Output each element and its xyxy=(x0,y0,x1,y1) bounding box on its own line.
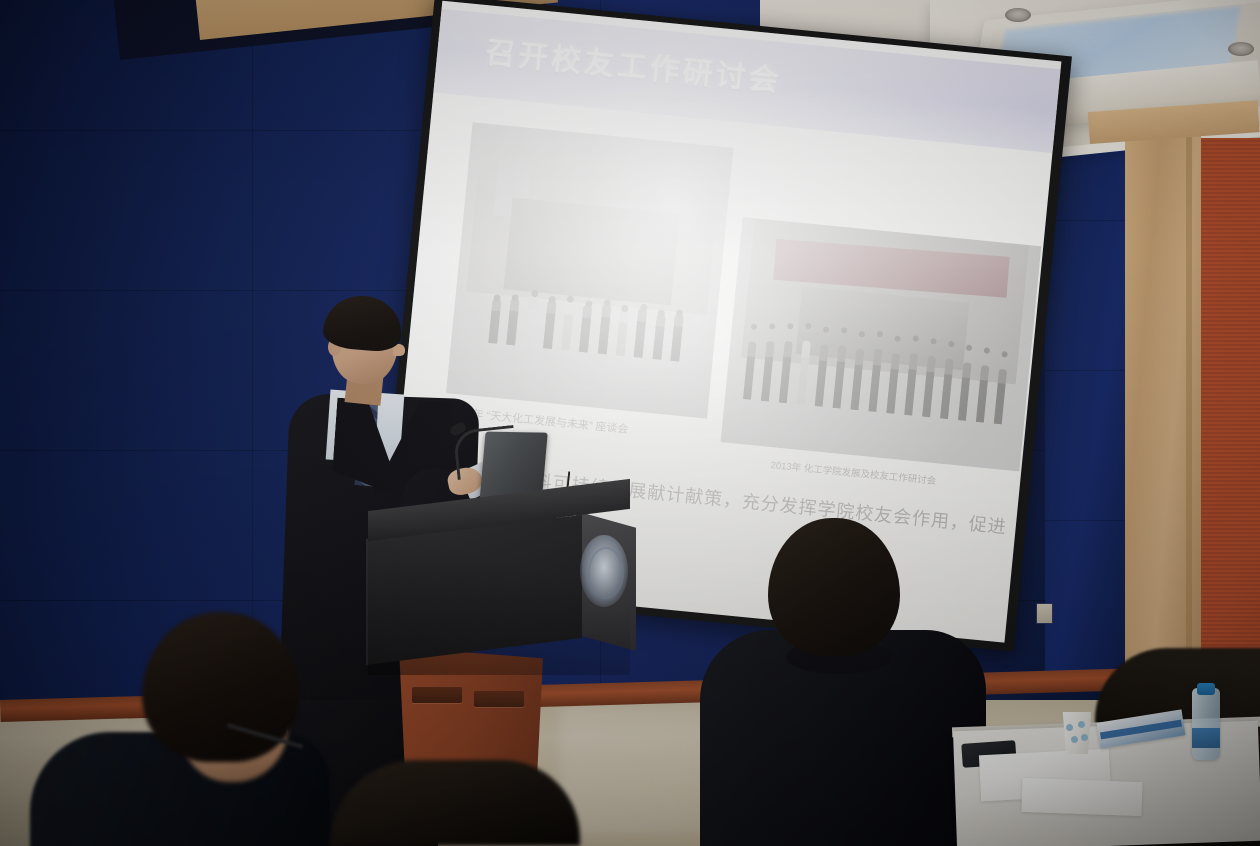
lectern-column-slot xyxy=(412,687,462,703)
water-bottle xyxy=(1192,688,1220,760)
lectern-column-slot xyxy=(474,691,524,707)
presenter-hair xyxy=(322,293,404,354)
wall-switch-plate[interactable] xyxy=(1036,603,1053,624)
water-bottle-cap xyxy=(1197,683,1215,695)
pillar-groove xyxy=(1186,128,1192,673)
audience-foreground-left xyxy=(30,612,360,846)
lectern-front-panel xyxy=(366,515,582,665)
photo-scene: 召开校友工作研讨会 xyxy=(0,0,1260,846)
terracotta-wall-panel xyxy=(1196,138,1260,698)
water-bottle-label xyxy=(1192,728,1220,748)
blue-wall-right-section xyxy=(1045,150,1135,690)
downlight-icon xyxy=(1005,8,1031,22)
document-stack xyxy=(1021,778,1142,816)
downlight-icon xyxy=(1228,42,1254,56)
university-seal-icon xyxy=(580,535,628,607)
audience-center-head xyxy=(768,518,900,656)
slide-photo-2013 xyxy=(721,217,1042,471)
slide-caption-right: 2013年 化工学院发展及校友工作研讨会 xyxy=(770,457,937,487)
